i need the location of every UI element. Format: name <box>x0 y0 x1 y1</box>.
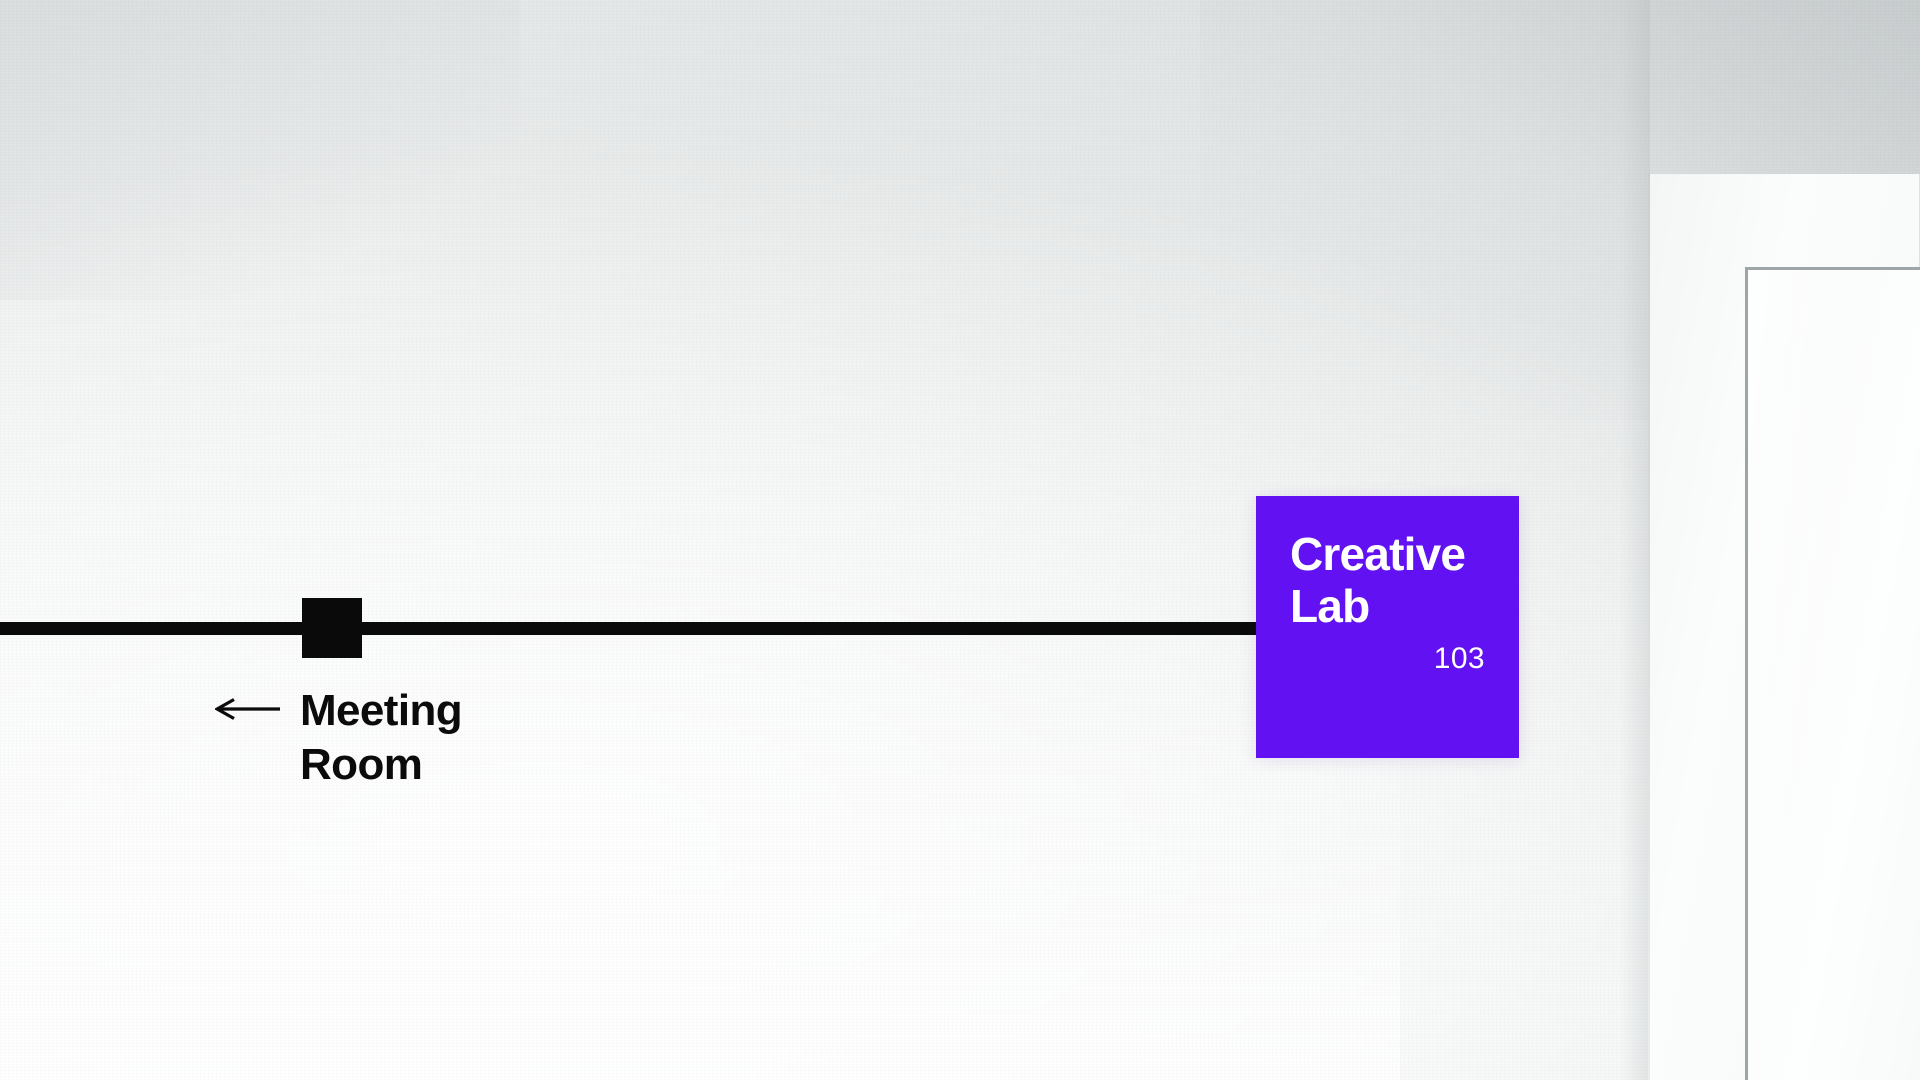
door-reveal-shadow <box>1620 0 1650 1080</box>
room-plaque-name: Creative Lab <box>1290 528 1519 632</box>
door-frame-edge <box>1648 174 1650 1080</box>
corridor-guide-line <box>0 622 1256 635</box>
signage-scene: Meeting Room Creative Lab 103 <box>0 0 1920 1080</box>
arrow-left-long-icon <box>215 698 281 720</box>
guide-line-node-marker <box>302 598 362 658</box>
room-plaque-number: 103 <box>1256 642 1485 676</box>
meeting-room-label: Meeting Room <box>300 684 462 792</box>
meeting-room-direction-label: Meeting Room <box>215 684 462 792</box>
room-plaque-creative-lab[interactable]: Creative Lab 103 <box>1256 496 1519 758</box>
door-panel-highlight <box>1748 270 1920 1080</box>
